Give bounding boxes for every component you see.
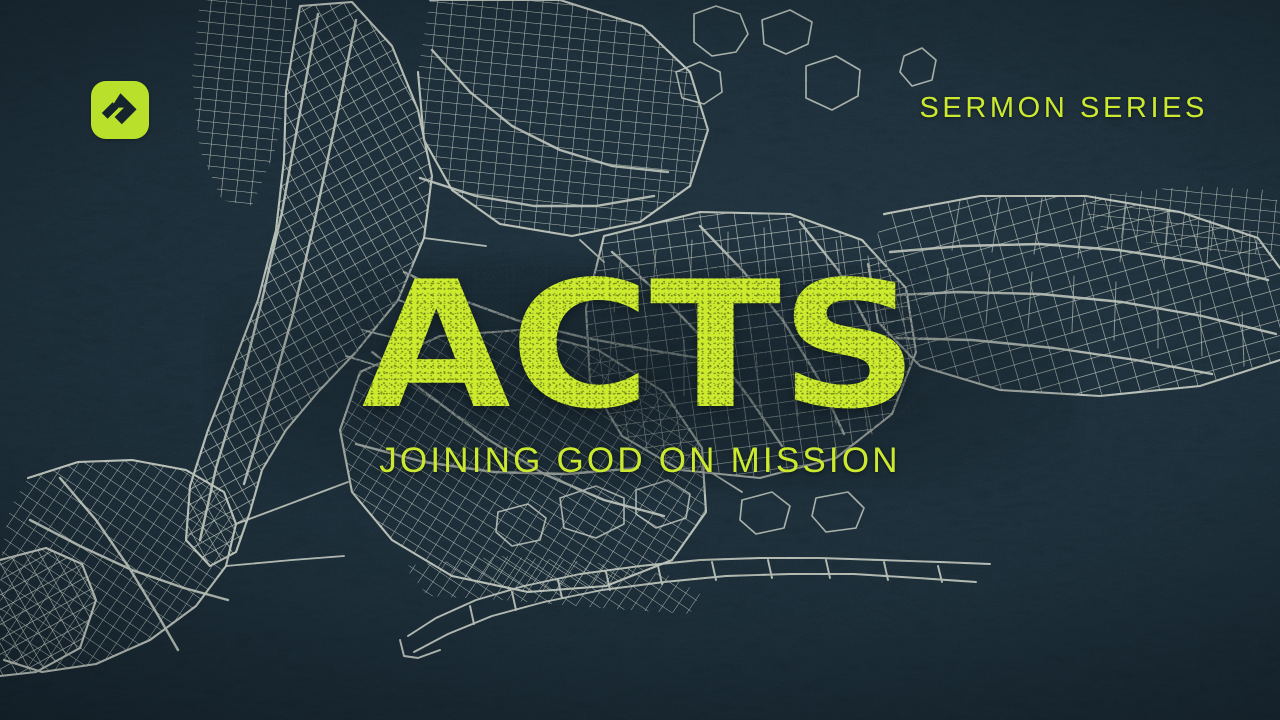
headline-container: ACTS: [0, 272, 1280, 423]
church-logo[interactable]: [91, 81, 149, 139]
page-subtitle: JOINING GOD ON MISSION: [0, 443, 1280, 478]
page-title: ACTS: [362, 272, 918, 423]
diamond-arrow-logo-icon: [100, 90, 140, 130]
eyebrow-label: SERMON SERIES: [919, 94, 1208, 123]
sermon-series-slide: SERMON SERIES ACTS JOINING GOD ON MISSIO…: [0, 0, 1280, 720]
